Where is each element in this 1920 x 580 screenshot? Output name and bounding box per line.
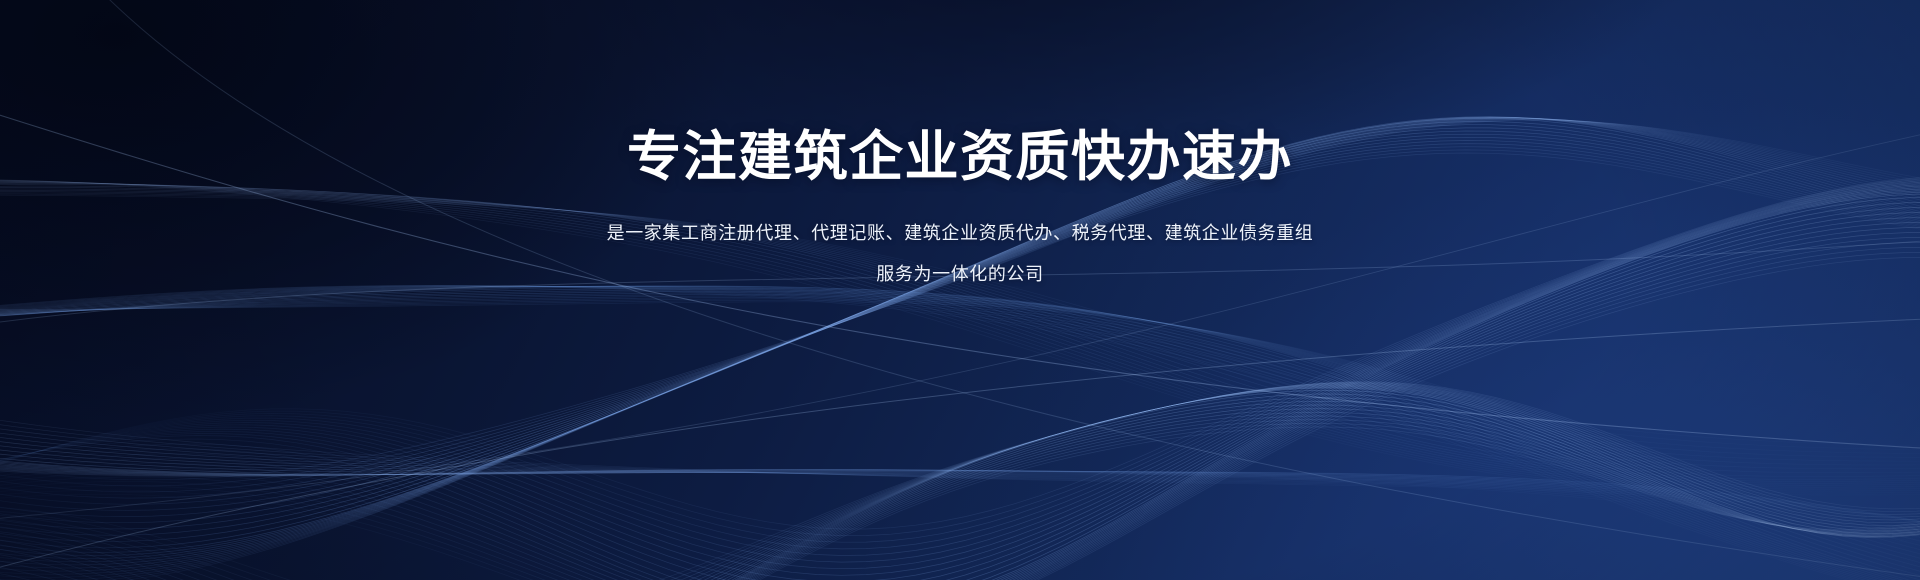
banner-headline: 专注建筑企业资质快办速办 xyxy=(627,126,1293,189)
banner-subtitle: 是一家集工商注册代理、代理记账、建筑企业资质代办、税务代理、建筑企业债务重组服务… xyxy=(604,213,1316,295)
banner-content: 专注建筑企业资质快办速办 是一家集工商注册代理、代理记账、建筑企业资质代办、税务… xyxy=(0,0,1920,580)
hero-banner: 专注建筑企业资质快办速办 是一家集工商注册代理、代理记账、建筑企业资质代办、税务… xyxy=(0,0,1920,580)
